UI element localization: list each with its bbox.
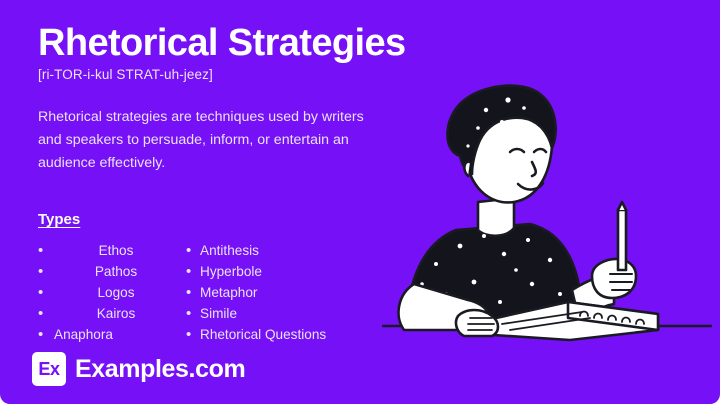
list-item-label: Pathos [52,264,186,279]
types-column-two: • Antithesis • Hyperbole • Metaphor • Si… [186,241,396,346]
types-lists: • Ethos • Pathos • Logos • Kairos • An [38,241,398,346]
list-item-label: Logos [52,285,186,300]
list-item: • Rhetorical Questions [186,325,396,344]
bullet-icon: • [38,285,52,300]
bullet-icon: • [186,264,200,279]
list-item-label: Rhetorical Questions [200,327,396,342]
bullet-icon: • [38,327,52,342]
bullet-icon: • [186,306,200,321]
brand-name: Examples.com [75,355,245,384]
page-title: Rhetorical Strategies [38,24,398,64]
list-item-label: Simile [200,306,396,321]
types-column-one: • Ethos • Pathos • Logos • Kairos • An [38,241,186,346]
list-item-label: Anaphora [52,327,186,342]
text-content-area: Rhetorical Strategies [ri-TOR-i-kul STRA… [38,24,398,346]
list-item: • Pathos [38,262,186,281]
examples-logo-icon: Ex [32,352,66,386]
slide-canvas: Rhetorical Strategies [ri-TOR-i-kul STRA… [0,0,720,404]
list-item: • Simile [186,304,396,323]
list-item: • Antithesis [186,241,396,260]
bullet-icon: • [186,243,200,258]
types-heading: Types [38,211,80,228]
person-with-pencil-illustration [382,78,712,346]
bullet-icon: • [186,285,200,300]
bullet-icon: • [186,327,200,342]
pronunciation-guide: [ri-TOR-i-kul STRAT-uh-jeez] [38,67,398,82]
list-item: • Logos [38,283,186,302]
brand-logo[interactable]: Ex Examples.com [32,352,245,386]
list-item-label: Metaphor [200,285,396,300]
list-item: • Anaphora [38,325,186,344]
bullet-icon: • [38,243,52,258]
list-item-label: Antithesis [200,243,396,258]
person-group [399,86,658,340]
bullet-icon: • [38,306,52,321]
list-item: • Kairos [38,304,186,323]
list-item: • Hyperbole [186,262,396,281]
list-item-label: Ethos [52,243,186,258]
bullet-icon: • [38,264,52,279]
list-item: • Metaphor [186,283,396,302]
list-item: • Ethos [38,241,186,260]
list-item-label: Kairos [52,306,186,321]
list-item-label: Hyperbole [200,264,396,279]
definition-paragraph: Rhetorical strategies are techniques use… [38,106,383,175]
